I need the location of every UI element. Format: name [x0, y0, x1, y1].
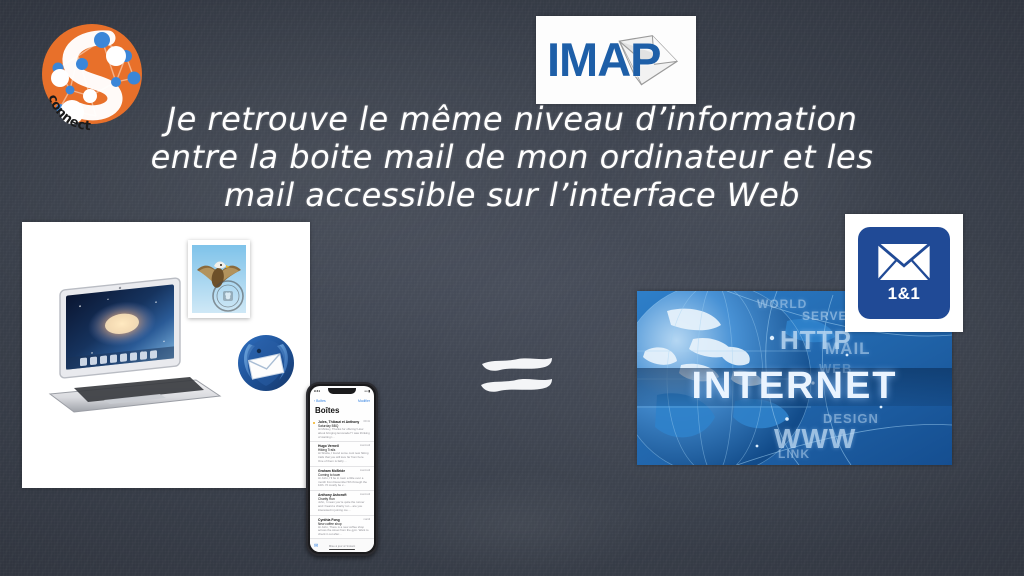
keyword-world: WORLD — [757, 297, 807, 311]
compose-icon[interactable]: ✉ — [314, 543, 318, 549]
list-item[interactable]: mercredi Anthony Ashcroft Charity Run Jo… — [310, 491, 374, 515]
status-indicators: ▪▪▪ ▮ — [364, 389, 370, 393]
message-date: mercredi — [360, 469, 370, 472]
message-preview: Hi Mickey, Thanks for offering! How abou… — [318, 428, 370, 439]
internet-headline: INTERNET — [637, 368, 952, 406]
unread-dot — [313, 422, 315, 424]
mailbox-title: Boîtes — [315, 406, 339, 415]
message-preview: Hi Sheila, I found some cool new hiking … — [318, 452, 370, 463]
home-indicator — [329, 549, 355, 551]
equals-symbol — [478, 352, 556, 398]
keyword-link: LINK — [778, 447, 810, 461]
message-date: mardi — [364, 518, 371, 521]
title-line-1: Je retrouve le même niveau d’information — [0, 100, 1024, 138]
page-title: Je retrouve le même niveau d’information… — [0, 100, 1024, 214]
title-line-3: mail accessible sur l’interface Web — [0, 176, 1024, 214]
one-and-one-tile: 1&1 — [858, 227, 950, 319]
message-date: mercredi — [360, 444, 370, 447]
notch — [328, 388, 356, 394]
one-and-one-label: 1&1 — [888, 284, 921, 304]
imap-badge: IMAP — [536, 16, 696, 104]
nav-bar[interactable]: ‹ Boîtes Modifier — [310, 396, 374, 405]
back-button[interactable]: ‹ Boîtes — [314, 399, 326, 403]
message-preview: John, I mean you’re quite the runner and… — [318, 501, 370, 512]
thunderbird-icon — [237, 334, 295, 392]
envelope-icon — [877, 243, 931, 281]
message-preview: Hi John, I’ll be in town a little over a… — [318, 477, 370, 488]
list-item[interactable]: 09:41 Jules, Thibaut et Anthony Saturday… — [310, 418, 374, 442]
message-preview: Hi John, There is a new coffee shop acro… — [318, 526, 370, 537]
apple-mail-stamp-icon — [188, 240, 250, 318]
imap-label: IMAP — [547, 31, 661, 89]
one-and-one-webmail-badge: 1&1 — [845, 214, 963, 332]
keyword-mail: MAIL — [825, 339, 871, 359]
list-item[interactable]: mercredi Hugo Verneil Hiking Trails Hi S… — [310, 442, 374, 466]
equals-chalk-icon — [478, 352, 556, 398]
list-item[interactable]: mercredi Graham McBride Coming to town H… — [310, 467, 374, 491]
desktop-mail-panel — [22, 222, 310, 488]
edit-button[interactable]: Modifier — [358, 399, 370, 403]
status-time: 9:41 — [314, 389, 320, 393]
message-date: mercredi — [360, 493, 370, 496]
iphone-screen[interactable]: 9:41 ▪▪▪ ▮ ‹ Boîtes Modifier Boîtes 09:4… — [310, 386, 374, 552]
refresh-status: Mise à jour à l’instant — [329, 544, 355, 548]
message-date: 09:41 — [364, 420, 371, 423]
iphone-mail-device[interactable]: 9:41 ▪▪▪ ▮ ‹ Boîtes Modifier Boîtes 09:4… — [306, 382, 378, 556]
title-line-2: entre la boite mail de mon ordinateur et… — [0, 138, 1024, 176]
list-item[interactable]: mardi Cynthia Fong New coffee shop Hi Jo… — [310, 516, 374, 538]
message-list[interactable]: 09:41 Jules, Thibaut et Anthony Saturday… — [310, 418, 374, 538]
